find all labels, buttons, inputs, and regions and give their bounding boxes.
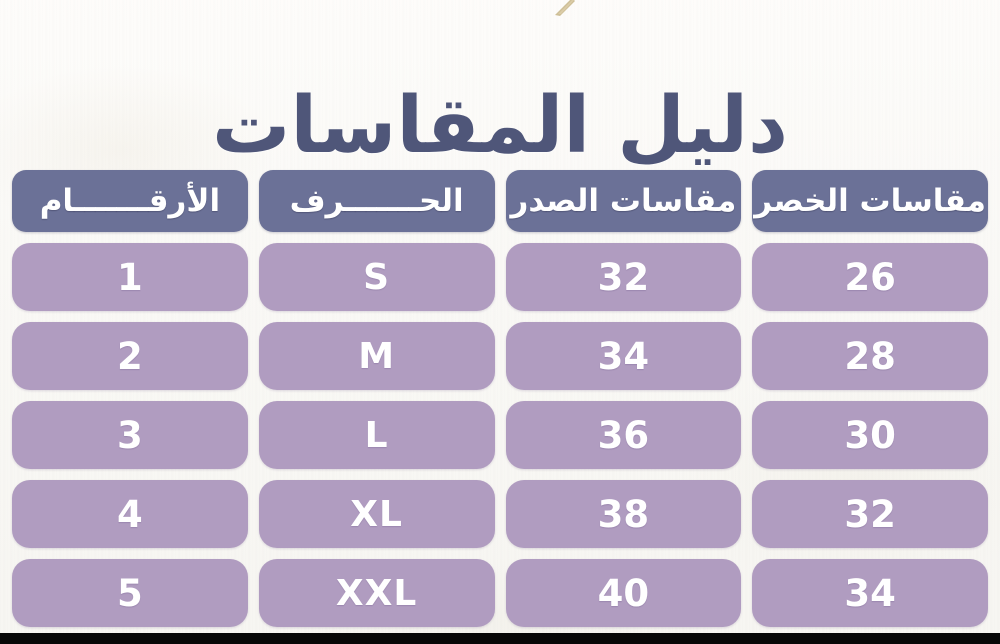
paper-smudge-artifact [548,0,578,18]
table-cell-letter-3: L [259,401,495,469]
table-cell-number-2: 2 [12,322,248,390]
column-header-number: الأرقـــــــام [12,170,248,232]
table-cell-chest-4: 38 [506,480,742,548]
table-cell-waist-2: 28 [752,322,988,390]
table-cell-waist-5: 34 [752,559,988,627]
table-cell-number-4: 4 [12,480,248,548]
table-cell-waist-4: 32 [752,480,988,548]
table-cell-letter-1: S [259,243,495,311]
table-cell-number-3: 3 [12,401,248,469]
table-column-number: الأرقـــــــام 1 2 3 4 5 [12,170,248,627]
size-guide-table: مقاسات الخصر 26 28 30 32 34 مقاسات الصدر… [12,170,988,627]
table-cell-letter-2: M [259,322,495,390]
table-cell-letter-5: XXL [259,559,495,627]
bottom-letterbox-bar [0,633,1000,644]
column-header-waist: مقاسات الخصر [752,170,988,232]
table-cell-chest-2: 34 [506,322,742,390]
size-guide-page: دليل المقاسات مقاسات الخصر 26 28 30 32 3… [0,0,1000,644]
table-cell-number-5: 5 [12,559,248,627]
table-column-waist: مقاسات الخصر 26 28 30 32 34 [752,170,988,627]
page-title: دليل المقاسات [0,80,1000,172]
table-cell-chest-1: 32 [506,243,742,311]
table-cell-chest-5: 40 [506,559,742,627]
table-cell-letter-4: XL [259,480,495,548]
table-cell-chest-3: 36 [506,401,742,469]
table-cell-waist-1: 26 [752,243,988,311]
table-column-chest: مقاسات الصدر 32 34 36 38 40 [506,170,742,627]
column-header-letter: الحـــــــرف [259,170,495,232]
table-cell-number-1: 1 [12,243,248,311]
table-cell-waist-3: 30 [752,401,988,469]
table-column-letter: الحـــــــرف S M L XL XXL [259,170,495,627]
column-header-chest: مقاسات الصدر [506,170,742,232]
